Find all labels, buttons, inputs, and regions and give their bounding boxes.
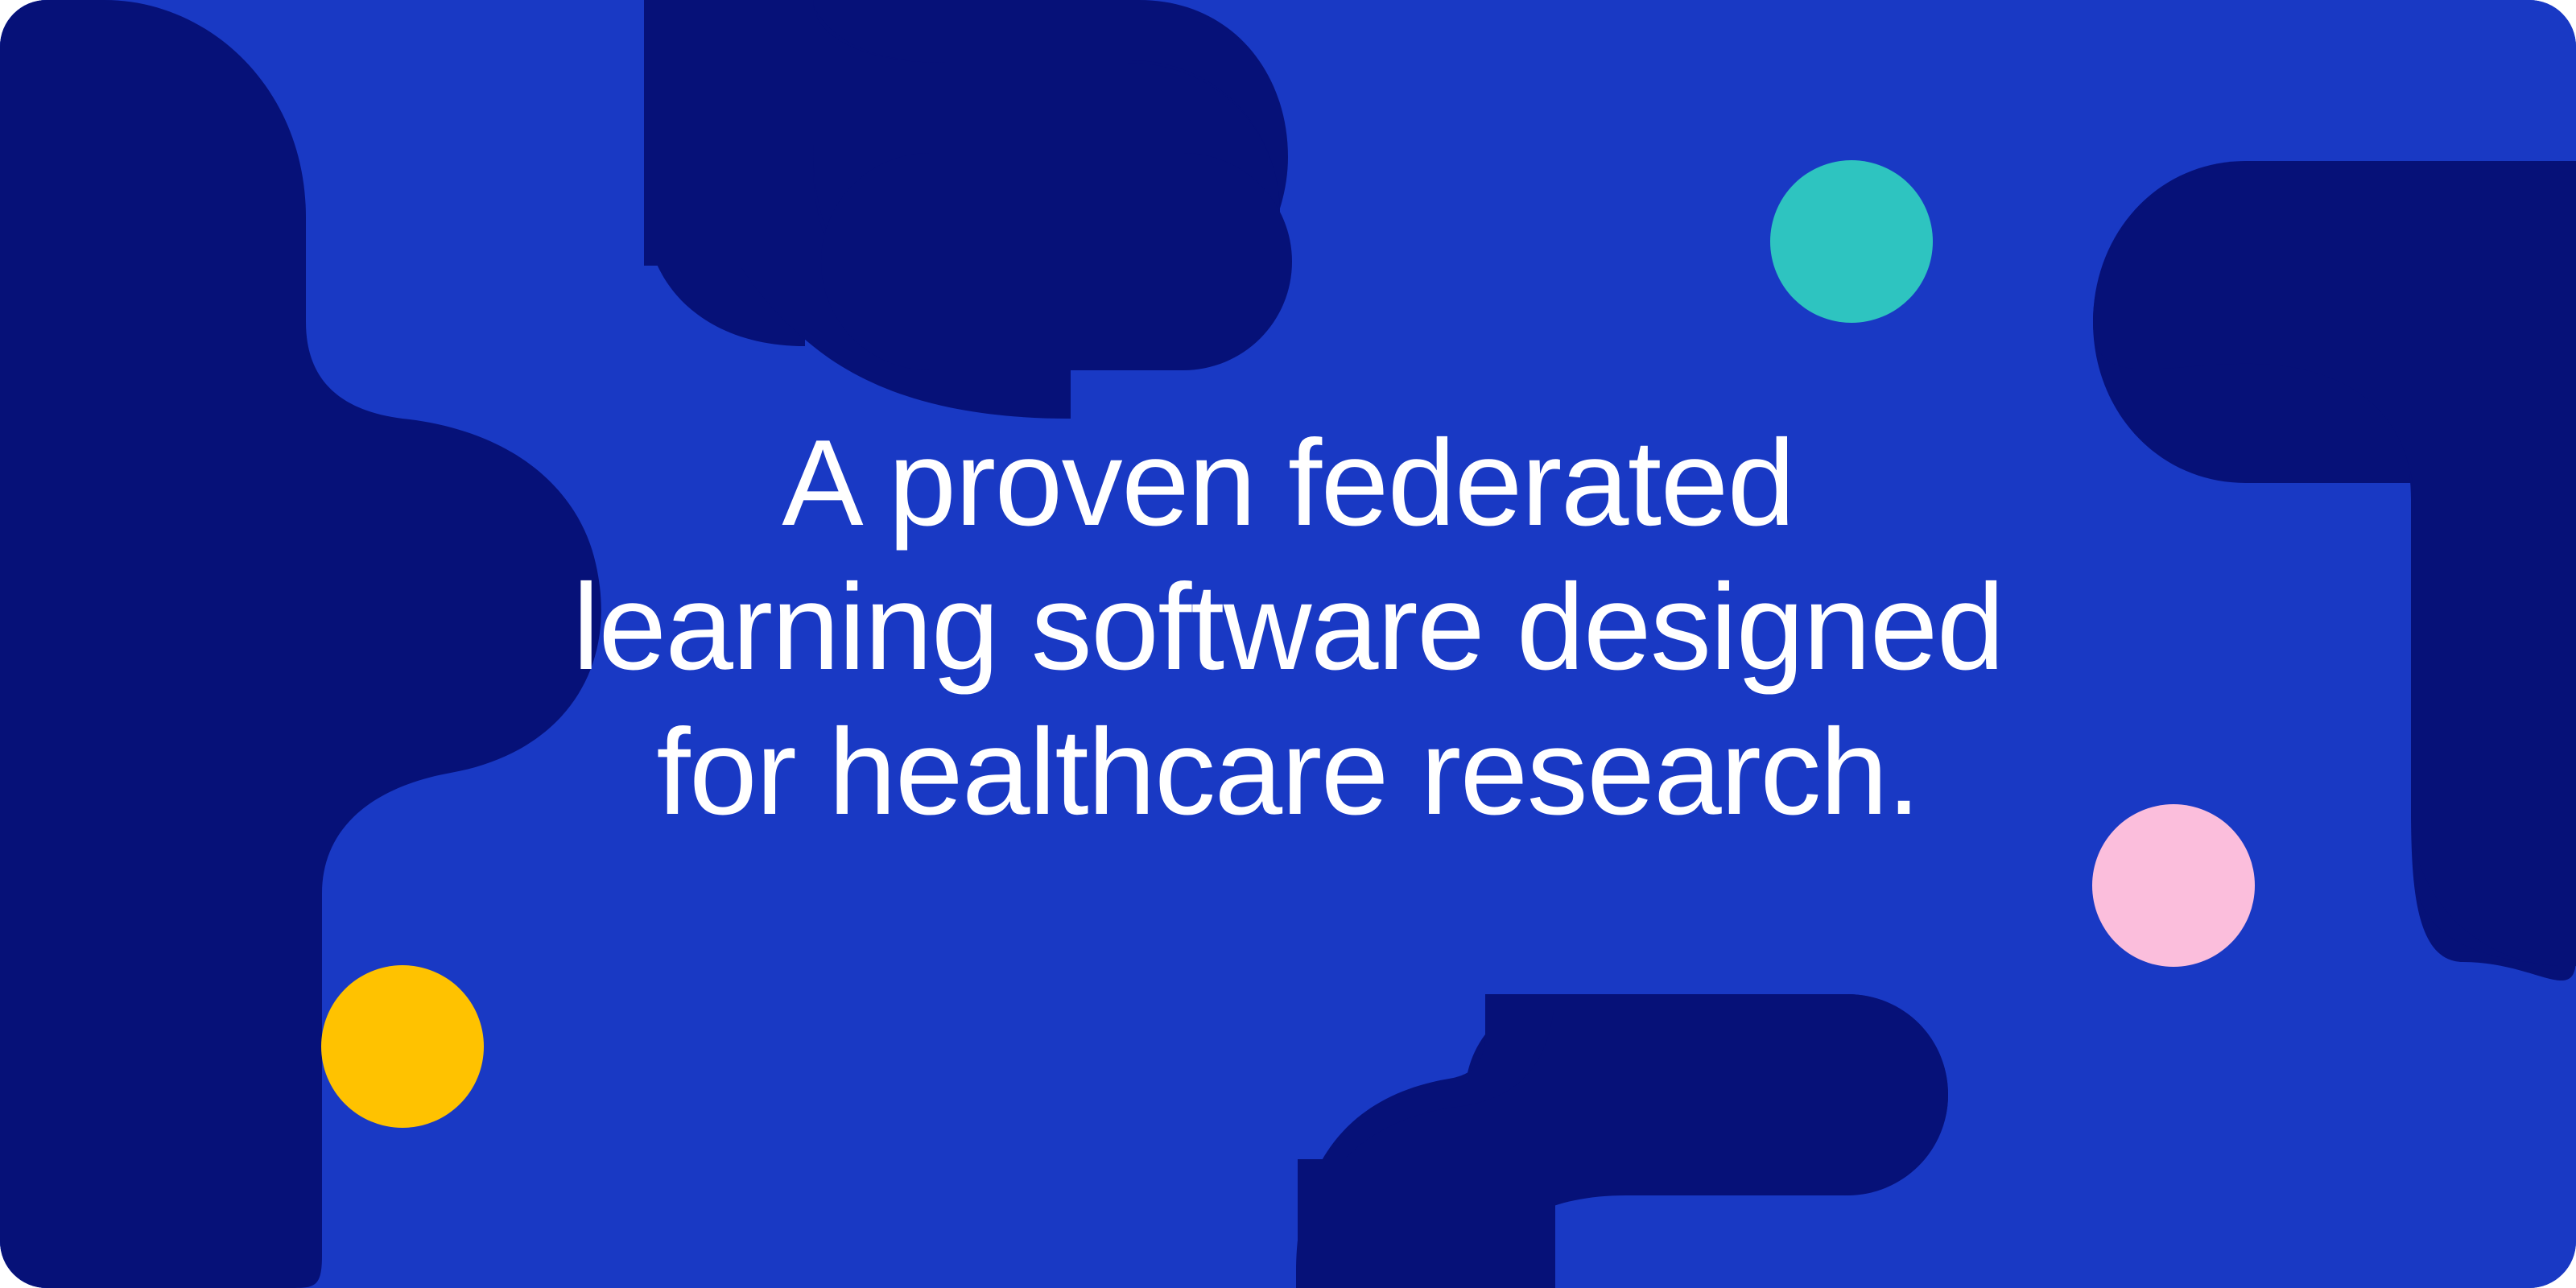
top-center-upper-stem [644, 0, 813, 266]
top-center-bar-path [821, 153, 1292, 370]
decorative-shape-layer [0, 0, 2576, 1288]
hero-banner-card: A proven federated learning software des… [0, 0, 2576, 1288]
pink-accent-circle [2092, 804, 2255, 967]
yellow-accent-circle [321, 965, 484, 1128]
bottom-center-vertical [1298, 1159, 1555, 1288]
teal-accent-circle [1770, 160, 1933, 323]
